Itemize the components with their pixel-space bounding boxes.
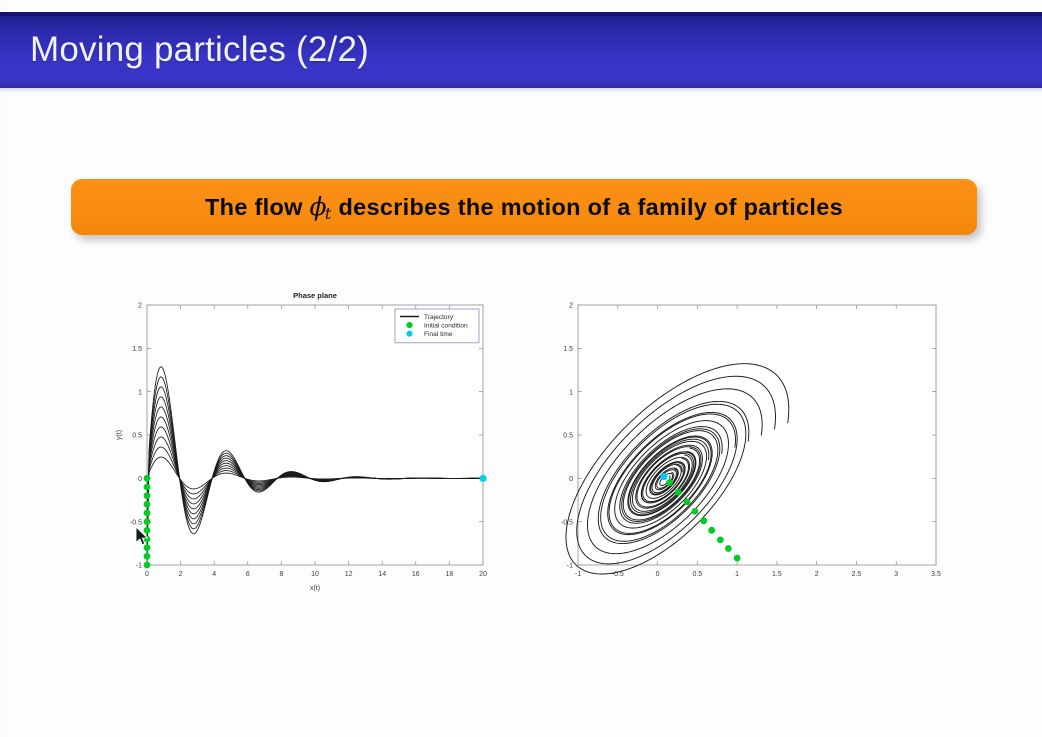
y-tick-label: 2: [138, 303, 142, 310]
x-tick-label: 6: [246, 571, 250, 578]
x-tick-label: 16: [412, 571, 420, 578]
y-tick-label: -1: [136, 563, 142, 570]
initial-condition-marker: [692, 508, 699, 515]
initial-condition-marker: [144, 501, 151, 508]
x-tick-label: 18: [446, 571, 454, 578]
title-banner: Moving particles (2/2): [0, 12, 1042, 88]
callout-text-before: The flow: [205, 194, 310, 220]
initial-condition-marker: [144, 536, 151, 543]
plot-background: [578, 305, 936, 565]
slide-canvas: Moving particles (2/2) The flow ϕt descr…: [0, 0, 1042, 737]
y-tick-label: 1: [569, 389, 573, 396]
y-tick-label: 0: [138, 476, 142, 483]
initial-condition-marker: [144, 510, 151, 517]
banner-underline: [0, 88, 1042, 93]
initial-condition-marker: [666, 479, 673, 486]
legend-dot-swatch: [406, 322, 412, 328]
initial-condition-marker: [144, 544, 151, 551]
callout-box: The flow ϕt describes the motion of a fa…: [71, 179, 977, 235]
phase-plane-right-chart: -1-0.500.511.522.533.5-1-0.500.511.52: [548, 283, 948, 603]
y-tick-label: 0.5: [563, 433, 573, 440]
x-tick-label: 12: [345, 571, 353, 578]
x-tick-label: 14: [378, 571, 386, 578]
legend-label: Final time: [424, 331, 453, 338]
figure-phase-plane-right: -1-0.500.511.522.533.5-1-0.500.511.52: [548, 283, 948, 603]
initial-condition-marker: [734, 555, 741, 562]
y-tick-label: -0.5: [130, 519, 142, 526]
x-tick-label: 3.5: [931, 571, 941, 578]
y-tick-label: 1: [138, 389, 142, 396]
legend-dot-swatch: [406, 331, 412, 337]
legend-label: Initial condition: [424, 323, 468, 330]
initial-condition-marker: [144, 475, 151, 482]
x-tick-label: 1.5: [772, 571, 782, 578]
initial-condition-marker: [144, 484, 151, 491]
y-tick-label: 1.5: [132, 346, 142, 353]
x-tick-label: 2: [815, 571, 819, 578]
x-tick-label: 0: [145, 571, 149, 578]
initial-condition-marker: [144, 492, 151, 499]
x-tick-label: 20: [479, 571, 487, 578]
phase-plane-left-chart: Phase plane02468101214161820-1-0.500.511…: [115, 283, 495, 603]
initial-condition-marker: [700, 517, 707, 524]
x-tick-label: 2: [179, 571, 183, 578]
y-tick-label: 1.5: [563, 346, 573, 353]
x-tick-label: 1: [735, 571, 739, 578]
initial-condition-marker: [684, 498, 691, 505]
x-tick-label: 0: [656, 571, 660, 578]
x-axis-label: x(t): [310, 585, 320, 592]
y-tick-label: 0.5: [132, 433, 142, 440]
initial-condition-marker: [725, 545, 732, 552]
callout-text-after: describes the motion of a family of part…: [332, 194, 843, 220]
legend-label: Trajectory: [424, 314, 454, 321]
x-tick-label: 8: [279, 571, 283, 578]
chart-legend: TrajectoryInitial conditionFinal time: [395, 309, 479, 343]
callout-text: The flow ϕt describes the motion of a fa…: [205, 192, 843, 223]
figure-phase-plane-left: Phase plane02468101214161820-1-0.500.511…: [115, 283, 495, 603]
initial-condition-marker: [144, 518, 151, 525]
x-tick-label: 0.5: [692, 571, 702, 578]
initial-condition-marker: [144, 562, 151, 569]
slide-left-edge: [0, 0, 6, 737]
final-time-marker: [660, 473, 667, 480]
x-tick-label: 2.5: [852, 571, 862, 578]
initial-condition-marker: [717, 536, 724, 543]
initial-condition-marker: [144, 553, 151, 560]
x-tick-label: 3: [894, 571, 898, 578]
initial-condition-marker: [708, 527, 715, 534]
final-time-marker: [479, 475, 486, 482]
initial-condition-marker: [144, 527, 151, 534]
chart-title: Phase plane: [293, 291, 337, 300]
x-tick-label: 10: [311, 571, 319, 578]
x-tick-label: 4: [212, 571, 216, 578]
phi-subscript: t: [325, 204, 332, 223]
y-tick-label: 0: [569, 476, 573, 483]
y-tick-label: 2: [569, 303, 573, 310]
page-title: Moving particles (2/2): [30, 30, 369, 70]
y-axis-label: y(t): [116, 430, 123, 440]
banner-top-line: [0, 12, 1042, 16]
initial-condition-marker: [675, 489, 682, 496]
y-tick-label: -1: [567, 563, 573, 570]
x-tick-label: -1: [575, 571, 581, 578]
